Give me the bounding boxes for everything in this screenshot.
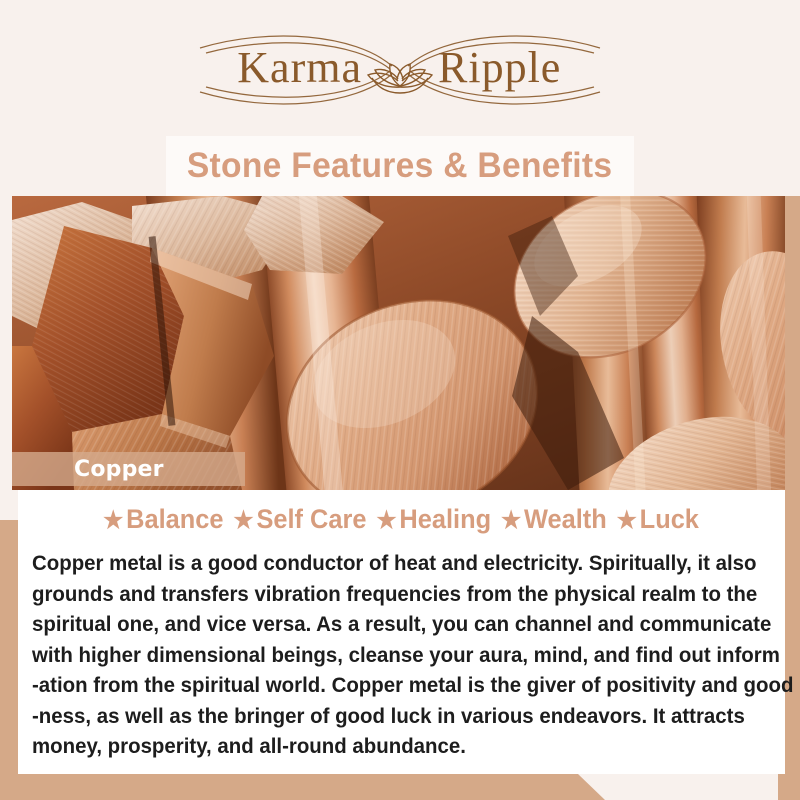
frame-bar-left — [0, 520, 18, 800]
content-card: ★Balance ★Self Care ★Healing ★Wealth ★Lu… — [18, 490, 785, 774]
stone-photo: Copper — [12, 196, 785, 490]
description-line: with higher dimensional beings, cleanse … — [32, 640, 737, 671]
brand-logo-svg: Karma Ripple — [140, 26, 660, 114]
description-line: spiritual one, and vice versa. As a resu… — [32, 609, 737, 640]
stone-photo-image — [12, 196, 785, 490]
benefit-item-luck: ★Luck — [616, 504, 701, 534]
description-line: money, prosperity, and all-round abundan… — [32, 731, 737, 762]
description-line: -ness, as well as the bringer of good lu… — [32, 701, 737, 732]
description-line: Copper metal is a good conductor of heat… — [32, 548, 737, 579]
stone-description: Copper metal is a good conductor of heat… — [32, 548, 737, 762]
infographic-page: Karma Ripple Stone Features & Benefits — [0, 0, 800, 800]
description-line: grounds and transfers vibration frequenc… — [32, 579, 737, 610]
star-icon: ★ — [616, 507, 638, 534]
benefit-item-balance: ★Balance — [102, 504, 225, 534]
benefit-label: Luck — [638, 504, 701, 534]
stone-name-label: Copper — [12, 457, 164, 482]
brand-name-right: Ripple — [438, 43, 561, 92]
benefit-label: Wealth — [522, 504, 608, 534]
description-line: -ation from the spiritual world. Copper … — [32, 670, 737, 701]
page-title: Stone Features & Benefits — [187, 146, 612, 186]
frame-bar-bottom — [0, 774, 800, 800]
benefit-item-wealth: ★Wealth — [500, 504, 609, 534]
star-icon: ★ — [500, 507, 522, 534]
brand-name-left: Karma — [237, 43, 362, 92]
benefit-item-self-care: ★Self Care — [232, 504, 368, 534]
star-icon: ★ — [375, 507, 397, 534]
benefit-label: Balance — [124, 504, 225, 534]
benefit-label: Self Care — [255, 504, 369, 534]
title-band: Stone Features & Benefits — [166, 136, 634, 196]
stone-caption-bar: Copper — [12, 452, 245, 486]
benefit-item-healing: ★Healing — [375, 504, 493, 534]
star-icon: ★ — [232, 507, 254, 534]
benefit-label: Healing — [398, 504, 493, 534]
star-icon: ★ — [102, 507, 124, 534]
brand-logo: Karma Ripple — [0, 26, 800, 114]
benefits-list: ★Balance ★Self Care ★Healing ★Wealth ★Lu… — [41, 504, 762, 535]
